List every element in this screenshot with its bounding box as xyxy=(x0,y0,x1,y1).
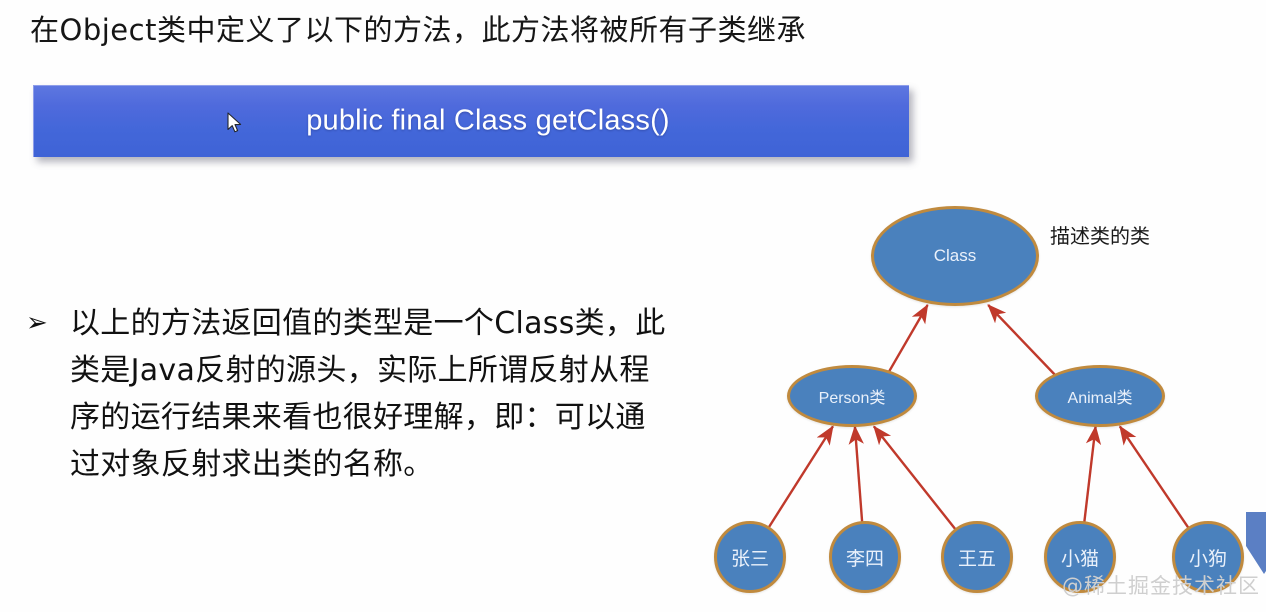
diagram-node-label: 李四 xyxy=(846,544,884,571)
diagram-node-person[interactable]: Person类 xyxy=(787,365,917,427)
diagram-node-label: 张三 xyxy=(731,544,769,571)
watermark: @稀土掘金技术社区 xyxy=(1062,570,1260,600)
diagram-node-li[interactable]: 李四 xyxy=(829,521,901,593)
diagram-node-label: 王五 xyxy=(958,544,996,571)
diagram-node-label: 小猫 xyxy=(1061,544,1099,571)
diagram-edge-dog-to-animal xyxy=(1120,426,1189,528)
page-title: 在Object类中定义了以下的方法，此方法将被所有子类继承 xyxy=(30,8,806,52)
diagram-edge-zhang-to-person xyxy=(768,426,833,528)
class-hierarchy-diagram: ClassPerson类Animal类张三李四王五小猫小狗 描述类的类 xyxy=(690,180,1266,612)
bullet-text: 以上的方法返回值的类型是一个Class类，此类是Java反射的源头，实际上所谓反… xyxy=(70,300,666,488)
diagram-node-animal[interactable]: Animal类 xyxy=(1035,365,1165,427)
diagram-edge-li-to-person xyxy=(855,426,862,523)
diagram-edge-animal-to-class xyxy=(988,305,1055,376)
slide-canvas: 在Object类中定义了以下的方法，此方法将被所有子类继承 public fin… xyxy=(0,0,1266,612)
code-banner-label: public final Class getClass() xyxy=(33,105,909,138)
diagram-node-class[interactable]: Class xyxy=(871,206,1039,306)
code-banner[interactable]: public final Class getClass() xyxy=(33,85,909,157)
diagram-node-label: Class xyxy=(934,246,977,266)
bullet-paragraph: ➢ 以上的方法返回值的类型是一个Class类，此类是Java反射的源头，实际上所… xyxy=(26,300,666,488)
diagram-node-zhang[interactable]: 张三 xyxy=(714,521,786,593)
diagram-node-wang[interactable]: 王五 xyxy=(941,521,1013,593)
diagram-side-label: 描述类的类 xyxy=(1050,220,1150,249)
corner-chevron-icon xyxy=(1246,512,1266,574)
diagram-node-label: Animal类 xyxy=(1068,384,1133,408)
mouse-pointer-icon xyxy=(227,112,243,134)
diagram-node-label: 小狗 xyxy=(1189,544,1227,571)
diagram-edge-cat-to-animal xyxy=(1084,426,1095,523)
bullet-arrow-icon: ➢ xyxy=(26,300,70,488)
diagram-edge-person-to-class xyxy=(889,305,928,372)
diagram-edge-wang-to-person xyxy=(874,426,956,530)
diagram-node-label: Person类 xyxy=(819,384,886,408)
